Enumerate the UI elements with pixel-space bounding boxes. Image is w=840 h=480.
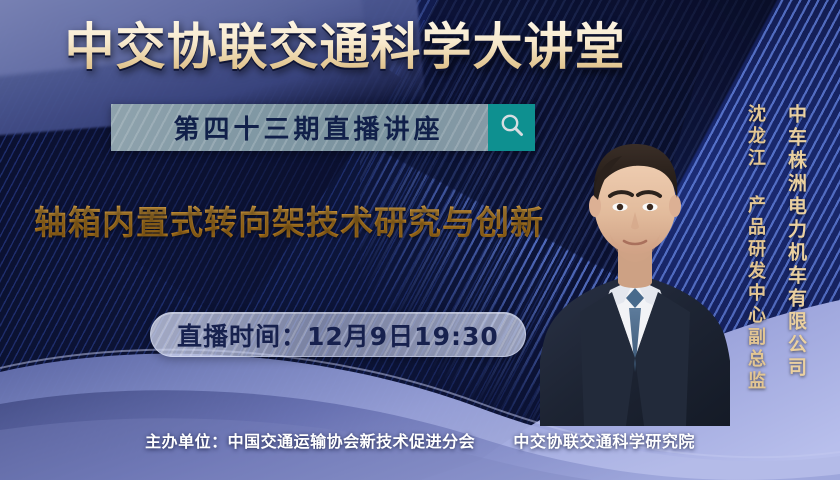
speaker-name-and-role: 沈龙江 产品研发中心副总监 [742,104,768,393]
footer-organizer-label: 主办单位：中国交通运输协会新技术促进分会 [145,432,475,451]
page-title: 中交协联交通科学大讲堂 [0,18,840,76]
subtitle-banner-body: 第四十三期直播讲座 [111,104,488,151]
broadcast-time-label: 直播时间：12月9日19:30 [177,317,499,353]
footer-institute: 中交协联交通科学研究院 [513,432,695,451]
live-lecture-poster: 中交协联交通科学大讲堂 第四十三期直播讲座 轴箱内置式转向架技术研究与创新 直播… [0,0,840,480]
speaker-company: 中车株洲电力机车有限公司 [783,104,810,380]
search-button[interactable] [488,104,535,151]
subtitle-banner: 第四十三期直播讲座 [111,104,535,151]
broadcast-time-badge: 直播时间：12月9日19:30 [150,312,526,357]
footer-organizers: 主办单位：中国交通运输协会新技术促进分会 中交协联交通科学研究院 [0,428,840,452]
subtitle-label: 第四十三期直播讲座 [155,109,443,146]
speaker-portrait [540,96,730,426]
lecture-topic: 轴箱内置式转向架技术研究与创新 [34,196,544,244]
search-icon [499,112,525,143]
